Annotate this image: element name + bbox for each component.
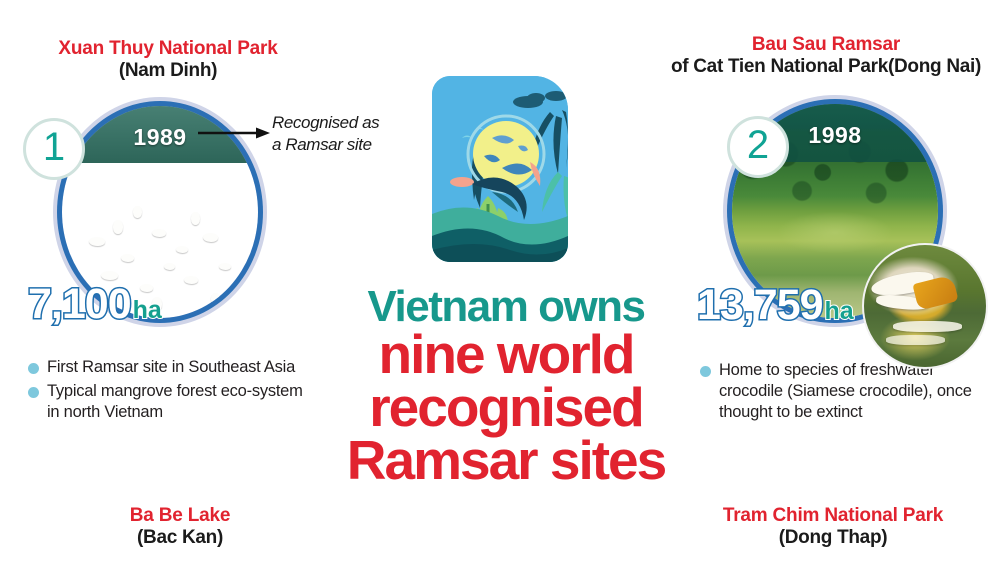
site-title-xuan-thuy: Xuan Thuy National Park (Nam Dinh) xyxy=(18,38,318,83)
list-item: Typical mangrove forest eco-system in no… xyxy=(28,381,318,423)
site-title-main: Xuan Thuy National Park xyxy=(18,38,318,60)
site-title-sub: (Nam Dinh) xyxy=(18,60,318,82)
headline-line-4: Ramsar sites xyxy=(330,434,682,487)
bullet-text: First Ramsar site in Southeast Asia xyxy=(47,357,295,378)
callout-annotation: Recognised as a Ramsar site xyxy=(272,112,412,156)
site-title-sub: (Dong Thap) xyxy=(668,527,998,549)
site-title-main: Ba Be Lake xyxy=(30,505,330,527)
page-title: Vietnam owns nine world recognised Ramsa… xyxy=(330,286,682,487)
site-number-badge-1: 1 xyxy=(23,118,85,180)
bullet-text: Home to species of freshwater crocodile … xyxy=(719,360,996,423)
ramsar-wetlands-logo xyxy=(432,76,568,262)
site-number-value: 2 xyxy=(747,125,769,165)
site-number-value: 1 xyxy=(43,127,65,167)
site-bullets-bau-sau: Home to species of freshwater crocodile … xyxy=(700,360,996,426)
callout-line-2: a Ramsar site xyxy=(272,135,372,154)
site-title-bau-sau: Bau Sau Ramsar of Cat Tien National Park… xyxy=(652,34,1000,79)
siamese-crocodile-photo xyxy=(862,243,988,369)
headline-line-1: Vietnam owns xyxy=(330,286,682,328)
site-title-sub: (Bac Kan) xyxy=(30,527,330,549)
bullet-dot-icon xyxy=(28,363,39,374)
site-title-main: Bau Sau Ramsar xyxy=(652,34,1000,56)
infographic-canvas: Xuan Thuy National Park (Nam Dinh) 1989 … xyxy=(0,0,1000,563)
site-year-value: 1998 xyxy=(808,122,861,149)
list-item: Home to species of freshwater crocodile … xyxy=(700,360,996,423)
bullet-dot-icon xyxy=(700,366,711,377)
site-year-value: 1989 xyxy=(133,124,186,151)
site-area-unit: ha xyxy=(133,296,162,324)
site-bullets-xuan-thuy: First Ramsar site in Southeast Asia Typi… xyxy=(28,357,318,426)
site-area-value: 13,759 xyxy=(697,281,823,329)
site-area-value: 7,100 xyxy=(28,280,131,328)
site-title-tram-chim: Tram Chim National Park (Dong Thap) xyxy=(668,505,998,550)
site-title-main: Tram Chim National Park xyxy=(668,505,998,527)
site-number-badge-2: 2 xyxy=(727,116,789,178)
headline-line-2: nine world xyxy=(330,328,682,381)
callout-line-1: Recognised as xyxy=(272,113,379,132)
bullet-text: Typical mangrove forest eco-system in no… xyxy=(47,381,318,423)
site-title-ba-be-lake: Ba Be Lake (Bac Kan) xyxy=(30,505,330,550)
headline-line-3: recognised xyxy=(330,381,682,434)
bullet-dot-icon xyxy=(28,387,39,398)
arrow-right-icon xyxy=(198,126,270,140)
site-title-sub: of Cat Tien National Park(Dong Nai) xyxy=(652,56,1000,78)
list-item: First Ramsar site in Southeast Asia xyxy=(28,357,318,378)
site-area-xuan-thuy: 7,100ha xyxy=(28,283,162,326)
site-area-bau-sau: 13,759ha xyxy=(697,284,854,327)
site-area-unit: ha xyxy=(825,297,854,325)
